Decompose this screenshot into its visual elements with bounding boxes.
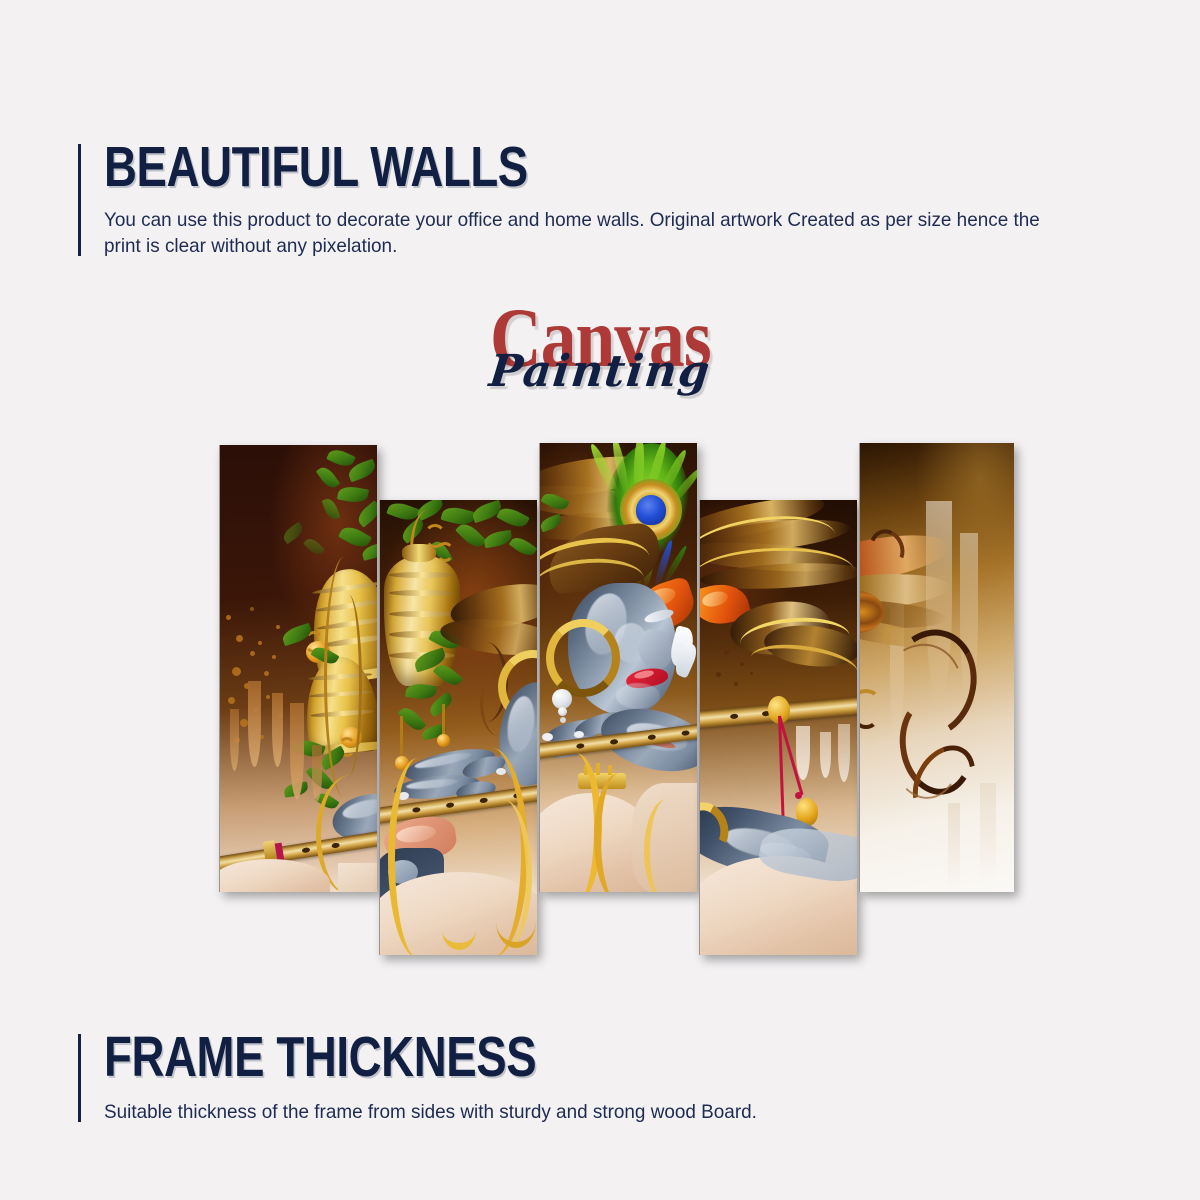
canvas-panel-group [219,443,1014,958]
page-title: BEAUTIFUL WALLS [104,140,891,194]
panel-3-artwork [540,443,697,892]
panel-5-artwork [860,443,1014,892]
canvas-painting-logo: Canvas Painting [0,300,1200,425]
canvas-panel-4-flute-tassels[interactable] [699,500,857,955]
feature-description-secondary: Suitable thickness of the frame from sid… [104,1100,1058,1126]
panel-4-artwork [700,500,857,955]
panel-1-artwork [220,445,377,892]
page-title-secondary: FRAME THICKNESS [104,1030,891,1084]
logo-secondary-text: Painting [0,350,1200,394]
feature-description: You can use this product to decorate you… [104,208,1058,259]
earring-hoop [546,619,620,697]
canvas-panel-3-krishna-face[interactable] [539,443,697,892]
feature-frame-thickness: FRAME THICKNESS Suitable thickness of th… [78,1030,1088,1126]
feature-beautiful-walls: BEAUTIFUL WALLS You can use this product… [78,140,1088,260]
canvas-panel-5-hair-curls[interactable] [859,443,1014,892]
canvas-panel-2-lantern[interactable] [379,500,537,955]
panel-2-artwork [380,500,537,955]
canvas-panel-1-bells-left[interactable] [219,445,377,892]
